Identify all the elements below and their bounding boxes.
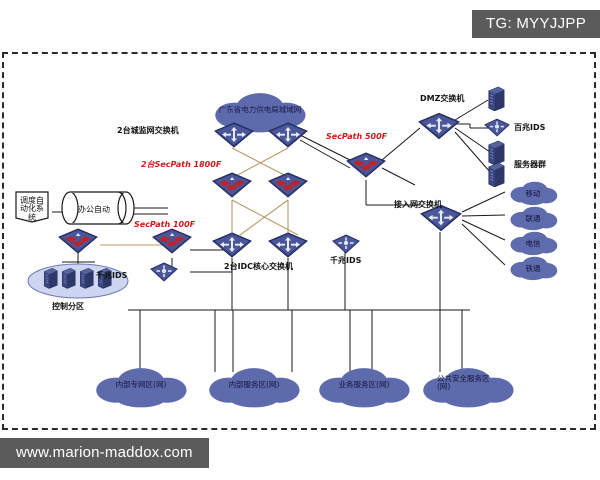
label-isp-cloud-0: 移动 — [513, 188, 553, 199]
label-secpath-100f: SecPath 100F — [134, 220, 195, 229]
label-office-auto: 办公自动 — [78, 205, 110, 214]
label-secpath-1800f: 2台SecPath 1800F — [141, 160, 221, 169]
label-isp-cloud-2: 电信 — [513, 238, 553, 249]
label-dmz-switch: DMZ交换机 — [420, 94, 464, 103]
label-idc-core-switch: 2台IDC核心交换机 — [224, 262, 293, 271]
network-topology-graphic — [0, 0, 600, 480]
watermark-url-banner: www.marion-maddox.com — [0, 438, 209, 468]
label-hundred-m-ids: 百兆IDS — [514, 123, 545, 132]
label-zone-cloud-2: 业务服务区(网) — [333, 381, 395, 389]
label-isp-cloud-3: 铁通 — [513, 263, 553, 274]
label-isp-cloud-1: 联通 — [513, 213, 553, 224]
label-server-farm: 服务器群 — [514, 160, 546, 169]
label-access-switch: 接入网交换机 — [394, 200, 442, 209]
label-dispatch-system: 调度自动化系统 — [17, 197, 47, 222]
watermark-tag-badge: TG: MYYJJPP — [472, 10, 600, 38]
screenshot-canvas: 广东省电力供电局城域网 2台城监网交换机 2台SecPath 1800F Sec… — [0, 0, 600, 480]
label-giga-ids-center: 千兆IDS — [330, 256, 361, 265]
label-zone-cloud-0: 内部专网区(网) — [110, 381, 172, 389]
label-giga-ids-left: 千兆IDS — [96, 271, 127, 280]
label-secpath-500f: SecPath 500F — [326, 132, 387, 141]
label-control-zone: 控制分区 — [52, 302, 84, 311]
label-city-mon-switch: 2台城监网交换机 — [117, 126, 179, 135]
label-zone-cloud-3: 公共安全服务区(网) — [437, 375, 499, 392]
label-title-cloud: 广东省电力供电局城域网 — [204, 104, 316, 115]
label-zone-cloud-1: 内部服务区(网) — [223, 381, 285, 389]
